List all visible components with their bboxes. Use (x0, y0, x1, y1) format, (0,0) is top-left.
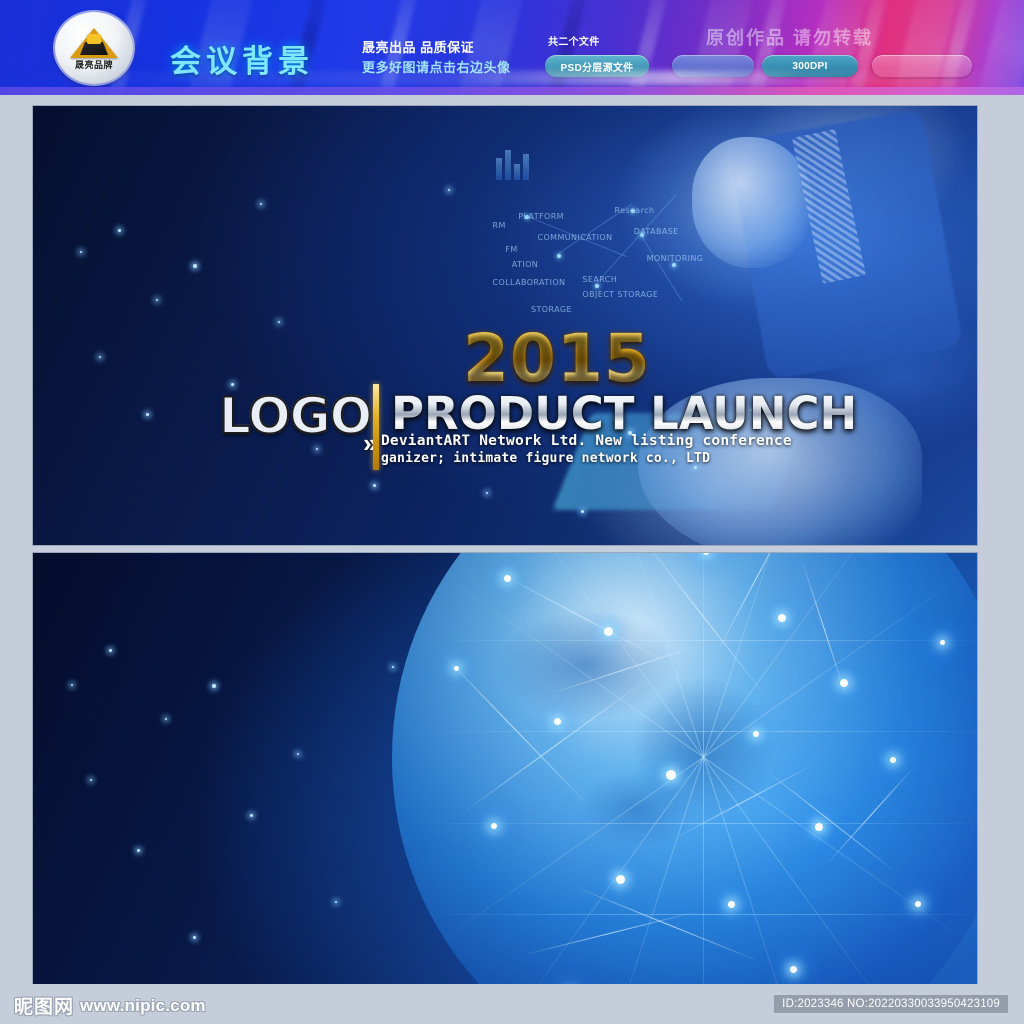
banner1-chevron-icon: » (363, 428, 373, 459)
files-count-label: 共二个文件 (548, 33, 600, 48)
banner1-content: 2015 LOGO » PRODUCT LAUNCH DeviantART Ne… (33, 106, 977, 545)
nipic-branding[interactable]: 昵图网 www.nipic.com (14, 992, 206, 1019)
banner1-year: 2015 (463, 320, 651, 397)
image-id-badge: ID:2023346 NO:20220330033950423109 (774, 995, 1008, 1013)
banner1-gold-divider (373, 384, 379, 470)
banner1-subtitle-2: ganizer; intimate figure network co., LT… (381, 451, 710, 466)
banner-preview-globe[interactable]: 2015 LOGO » PRODUCT LAUNCH DeviantART Ne… (32, 552, 978, 989)
site-footer: 昵图网 www.nipic.com ID:2023346 NO:20220330… (0, 984, 1024, 1024)
nipic-name-cn: 昵图网 (14, 992, 74, 1019)
banner-preview-tablet[interactable]: RM FM PLATFORM Research COMMUNICATION DA… (32, 105, 978, 546)
site-header: 晟亮品牌 会议背景 晟亮出品 品质保证 更多好图请点击右边头像 共二个文件 PS… (0, 0, 1024, 95)
copyright-watermark: 原创作品 请勿转载 (706, 24, 873, 50)
header-bottom-strip (0, 87, 1024, 95)
banner2-content: 2015 LOGO » PRODUCT LAUNCH DeviantART Ne… (33, 553, 977, 988)
banner1-subtitle-1: DeviantART Network Ltd. New listing conf… (381, 433, 792, 449)
slogan-line-1: 晟亮出品 品质保证 (362, 38, 511, 58)
pyramid-icon (70, 28, 118, 58)
nipic-url: www.nipic.com (80, 996, 206, 1016)
header-shine (0, 71, 1024, 85)
banner1-logo-word: LOGO (219, 387, 371, 445)
brand-logo-caption: 晟亮品牌 (75, 61, 113, 70)
